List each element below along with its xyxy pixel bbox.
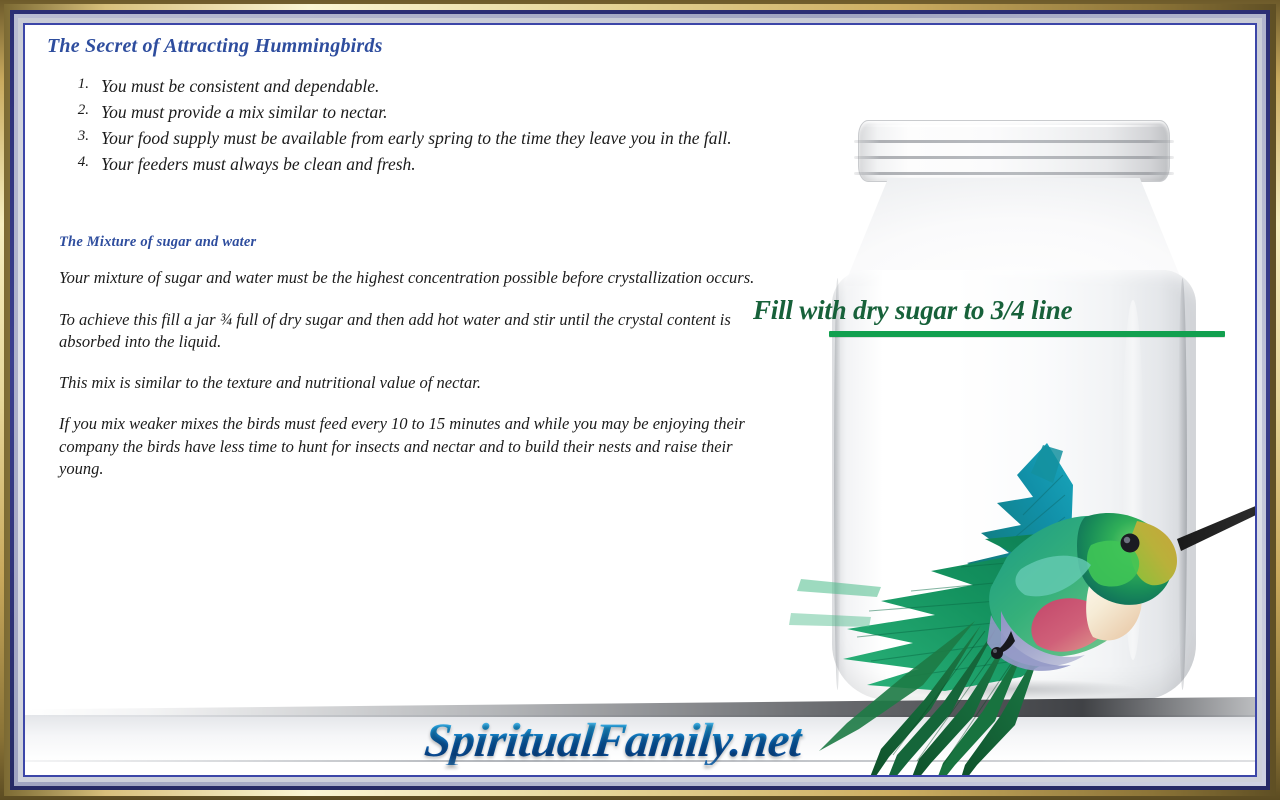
- paragraph: Your mixture of sugar and water must be …: [59, 267, 759, 289]
- list-item-label: Your feeders must always be clean and fr…: [101, 154, 416, 174]
- poster: The Secret of Attracting Hummingbirds 1.…: [0, 0, 1280, 800]
- jar-thread-line: [854, 156, 1174, 159]
- list-item-number: 4.: [65, 152, 89, 173]
- list-item-label: You must provide a mix similar to nectar…: [101, 102, 388, 122]
- rules-list: 1. You must be consistent and dependable…: [61, 74, 773, 176]
- paragraph: To achieve this fill a jar ¾ full of dry…: [59, 309, 759, 354]
- paragraph: If you mix weaker mixes the birds must f…: [59, 413, 759, 480]
- fill-line-annotation: Fill with dry sugar to 3/4 line: [753, 297, 1253, 337]
- jar-thread-line: [854, 140, 1174, 143]
- bird-eye: [1121, 534, 1140, 553]
- list-item-label: Your food supply must be available from …: [101, 128, 732, 148]
- bird-foot: [991, 647, 1003, 659]
- jar-thread-line: [854, 172, 1174, 175]
- list-item: 3. Your food supply must be available fr…: [61, 126, 773, 151]
- list-item: 1. You must be consistent and dependable…: [61, 74, 773, 99]
- article-text-column: The Secret of Attracting Hummingbirds 1.…: [33, 29, 773, 480]
- bird-beak: [1177, 497, 1255, 551]
- paragraph: This mix is similar to the texture and n…: [59, 372, 759, 394]
- list-item-number: 3.: [65, 126, 89, 147]
- list-item: 2. You must provide a mix similar to nec…: [61, 100, 773, 125]
- list-item-number: 2.: [65, 100, 89, 121]
- annotation-label: Fill with dry sugar to 3/4 line: [753, 297, 1253, 324]
- page-title: The Secret of Attracting Hummingbirds: [47, 35, 773, 58]
- site-watermark: SpiritualFamily.net: [422, 717, 804, 765]
- list-item-number: 1.: [65, 74, 89, 95]
- list-item: 4. Your feeders must always be clean and…: [61, 152, 773, 177]
- poster-canvas: The Secret of Attracting Hummingbirds 1.…: [25, 25, 1255, 775]
- hummingbird-illustration: [785, 325, 1255, 775]
- section-title: The Mixture of sugar and water: [59, 234, 773, 251]
- list-item-label: You must be consistent and dependable.: [101, 76, 379, 96]
- annotation-fill-line: [829, 331, 1225, 337]
